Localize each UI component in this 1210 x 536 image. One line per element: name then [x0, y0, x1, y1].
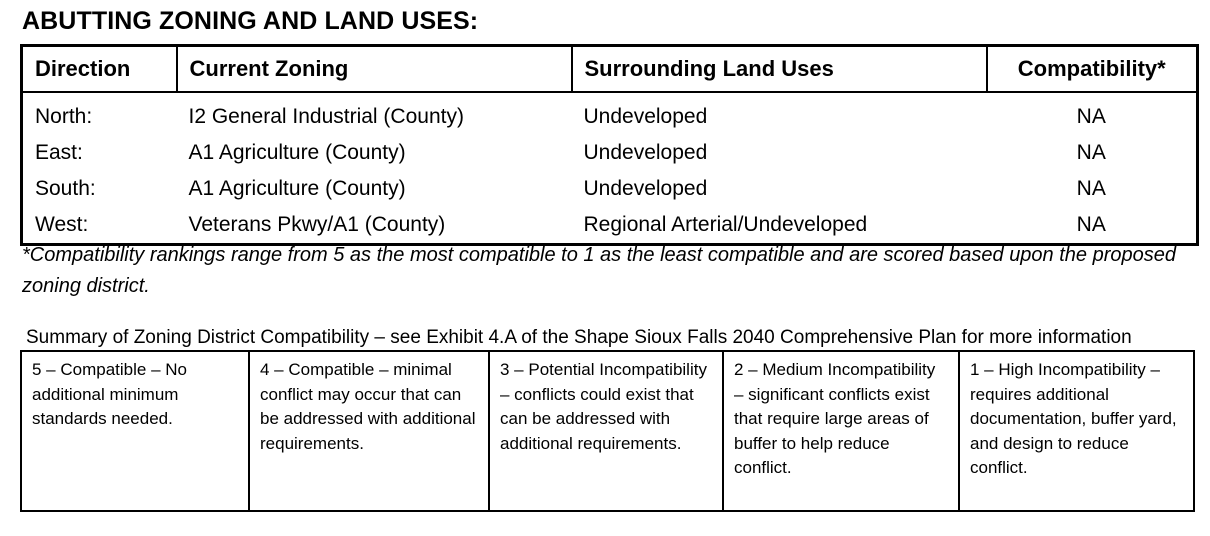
- cell-direction: West:: [22, 207, 177, 245]
- compatibility-footnote: *Compatibility rankings range from 5 as …: [22, 240, 1202, 302]
- scale-cell-1: 1 – High Incompatibility – requires addi…: [959, 351, 1194, 511]
- page-title: ABUTTING ZONING AND LAND USES:: [22, 6, 478, 36]
- table-row: North: I2 General Industrial (County) Un…: [22, 92, 1198, 135]
- table-header-row: Direction Current Zoning Surrounding Lan…: [22, 46, 1198, 93]
- column-header-direction: Direction: [22, 46, 177, 93]
- compatibility-summary-line: Summary of Zoning District Compatibility…: [26, 326, 1206, 350]
- cell-surrounding-land-uses: Undeveloped: [572, 92, 987, 135]
- cell-compatibility: NA: [987, 135, 1198, 171]
- scale-cell-3: 3 – Potential Incompatibility – conflict…: [489, 351, 723, 511]
- cell-compatibility: NA: [987, 171, 1198, 207]
- column-header-current-zoning: Current Zoning: [177, 46, 572, 93]
- cell-direction: South:: [22, 171, 177, 207]
- table-row: West: Veterans Pkwy/A1 (County) Regional…: [22, 207, 1198, 245]
- cell-current-zoning: A1 Agriculture (County): [177, 171, 572, 207]
- cell-surrounding-land-uses: Undeveloped: [572, 135, 987, 171]
- scale-cell-5: 5 – Compatible – No additional minimum s…: [21, 351, 249, 511]
- table-row: South: A1 Agriculture (County) Undevelop…: [22, 171, 1198, 207]
- cell-current-zoning: I2 General Industrial (County): [177, 92, 572, 135]
- abutting-zoning-table: Direction Current Zoning Surrounding Lan…: [20, 44, 1199, 246]
- cell-surrounding-land-uses: Regional Arterial/Undeveloped: [572, 207, 987, 245]
- cell-current-zoning: Veterans Pkwy/A1 (County): [177, 207, 572, 245]
- scale-cell-2: 2 – Medium Incompatibility – significant…: [723, 351, 959, 511]
- cell-direction: North:: [22, 92, 177, 135]
- table-row: East: A1 Agriculture (County) Undevelope…: [22, 135, 1198, 171]
- document-page: ABUTTING ZONING AND LAND USES: Direction…: [0, 0, 1210, 536]
- cell-current-zoning: A1 Agriculture (County): [177, 135, 572, 171]
- column-header-compatibility: Compatibility*: [987, 46, 1198, 93]
- cell-compatibility: NA: [987, 207, 1198, 245]
- scale-cell-4: 4 – Compatible – minimal conflict may oc…: [249, 351, 489, 511]
- cell-compatibility: NA: [987, 92, 1198, 135]
- column-header-surrounding-land-uses: Surrounding Land Uses: [572, 46, 987, 93]
- cell-direction: East:: [22, 135, 177, 171]
- cell-surrounding-land-uses: Undeveloped: [572, 171, 987, 207]
- compatibility-scale-table: 5 – Compatible – No additional minimum s…: [20, 350, 1195, 512]
- table-row: 5 – Compatible – No additional minimum s…: [21, 351, 1194, 511]
